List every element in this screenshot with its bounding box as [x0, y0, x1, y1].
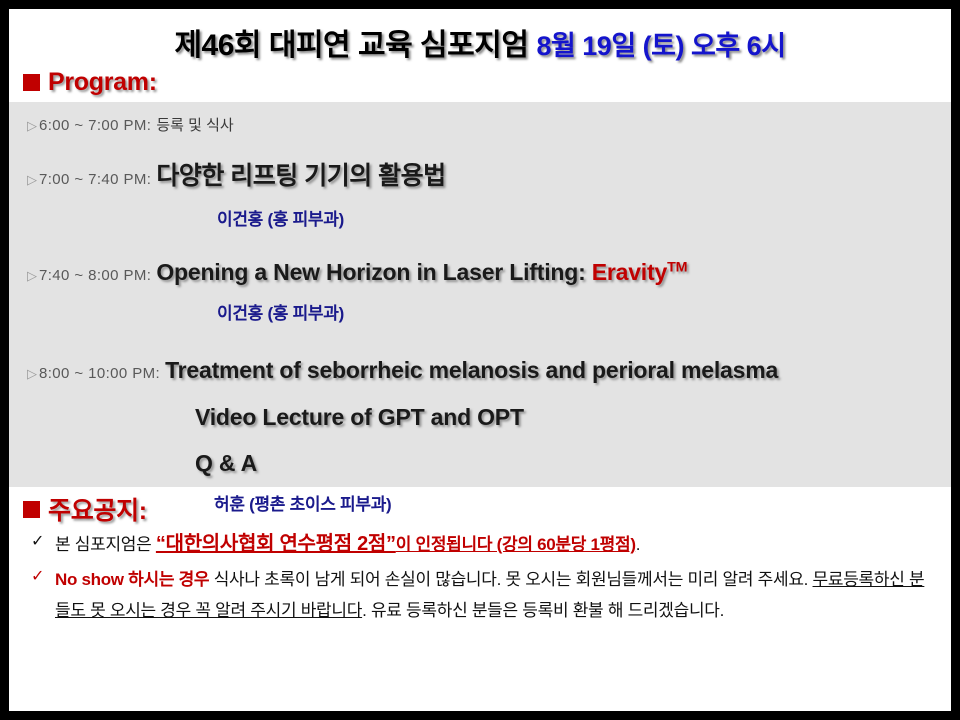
program-speaker: 이건홍 (홍 피부과) — [9, 205, 951, 230]
program-time: 7:40 ~ 8:00 PM: — [39, 267, 151, 284]
checkmark-icon: ✓ — [31, 564, 55, 590]
program-title-accent: Eravity — [592, 259, 667, 285]
notice-seg: 본 심포지엄은 — [55, 535, 156, 554]
triangle-right-outline-icon: ▷ — [27, 367, 37, 380]
trademark-superscript: TM — [667, 259, 687, 275]
program-time: 8:00 ~ 10:00 PM: — [39, 365, 160, 382]
notice-seg-highlight: No show 하시는 경우 — [55, 570, 209, 589]
program-subline: Q & A — [9, 450, 951, 477]
triangle-right-outline-icon: ▷ — [27, 173, 37, 186]
presentation-slide: 제46회 대피연 교육 심포지엄8월 19일 (토) 오후 6시 Program… — [0, 0, 960, 720]
triangle-right-outline-icon: ▷ — [27, 269, 37, 282]
notice-seg-highlight: 이 인정됩니다 (강의 60분당 1평점) — [396, 535, 636, 554]
program-panel: ▷ 6:00 ~ 7:00 PM: 등록 및 식사 ▷ 7:00 ~ 7:40 … — [9, 102, 951, 487]
notices-heading: 주요공지: — [9, 493, 951, 525]
program-row: ▷ 7:00 ~ 7:40 PM: 다양한 리프팅 기기의 활용법 — [9, 156, 951, 192]
program-title: 등록 및 식사 — [156, 114, 233, 135]
program-subline: Video Lecture of GPT and OPT — [9, 404, 951, 431]
title-date-text: 8월 19일 (토) 오후 6시 — [536, 31, 785, 61]
program-title-text: Opening a New Horizon in Laser Lifting: — [156, 259, 591, 285]
checkmark-icon: ✓ — [31, 529, 55, 555]
notices-section: 주요공지: ✓ 본 심포지엄은 “대한의사협회 연수평점 2점”이 인정됩니다 … — [9, 487, 951, 626]
red-square-bullet-icon — [23, 74, 40, 91]
program-time: 7:00 ~ 7:40 PM: — [39, 171, 151, 188]
program-time: 6:00 ~ 7:00 PM: — [39, 117, 151, 134]
notice-item: ✓ 본 심포지엄은 “대한의사협회 연수평점 2점”이 인정됩니다 (강의 60… — [9, 529, 951, 560]
notice-item: ✓ No show 하시는 경우 식사나 초록이 남게 되어 손실이 많습니다.… — [9, 564, 951, 626]
notice-seg-highlight: “대한의사협회 연수평점 2점” — [156, 533, 396, 555]
notice-seg: 식사나 초록이 남게 되어 손실이 많습니다. 못 오시는 회원님들께서는 미리… — [209, 570, 812, 589]
red-square-bullet-icon — [23, 501, 40, 518]
program-speaker: 이건홍 (홍 피부과) — [9, 299, 951, 324]
notice-seg: . 유료 등록하신 분들은 등록비 환불 해 드리겠습니다. — [362, 601, 724, 620]
program-title: 다양한 리프팅 기기의 활용법 — [156, 156, 445, 192]
notices-list: ✓ 본 심포지엄은 “대한의사협회 연수평점 2점”이 인정됩니다 (강의 60… — [9, 525, 951, 626]
notice-text: 본 심포지엄은 “대한의사협회 연수평점 2점”이 인정됩니다 (강의 60분당… — [55, 529, 640, 560]
program-row: ▷ 7:40 ~ 8:00 PM: Opening a New Horizon … — [9, 259, 951, 286]
notices-heading-label: 주요공지: — [48, 491, 147, 527]
program-title: Opening a New Horizon in Laser Lifting: … — [156, 259, 687, 286]
notice-seg: . — [636, 535, 640, 554]
program-title: Treatment of seborrheic melanosis and pe… — [165, 357, 778, 384]
notice-text: No show 하시는 경우 식사나 초록이 남게 되어 손실이 많습니다. 못… — [55, 564, 935, 626]
title-main-text: 제46회 대피연 교육 심포지엄 — [174, 29, 528, 62]
program-row: ▷ 8:00 ~ 10:00 PM: Treatment of seborrhe… — [9, 357, 951, 384]
slide-title: 제46회 대피연 교육 심포지엄8월 19일 (토) 오후 6시 — [9, 9, 951, 66]
triangle-right-outline-icon: ▷ — [27, 119, 37, 132]
program-heading: Program: — [9, 67, 951, 98]
program-heading-label: Program: — [48, 68, 157, 97]
program-row: ▷ 6:00 ~ 7:00 PM: 등록 및 식사 — [9, 114, 951, 135]
